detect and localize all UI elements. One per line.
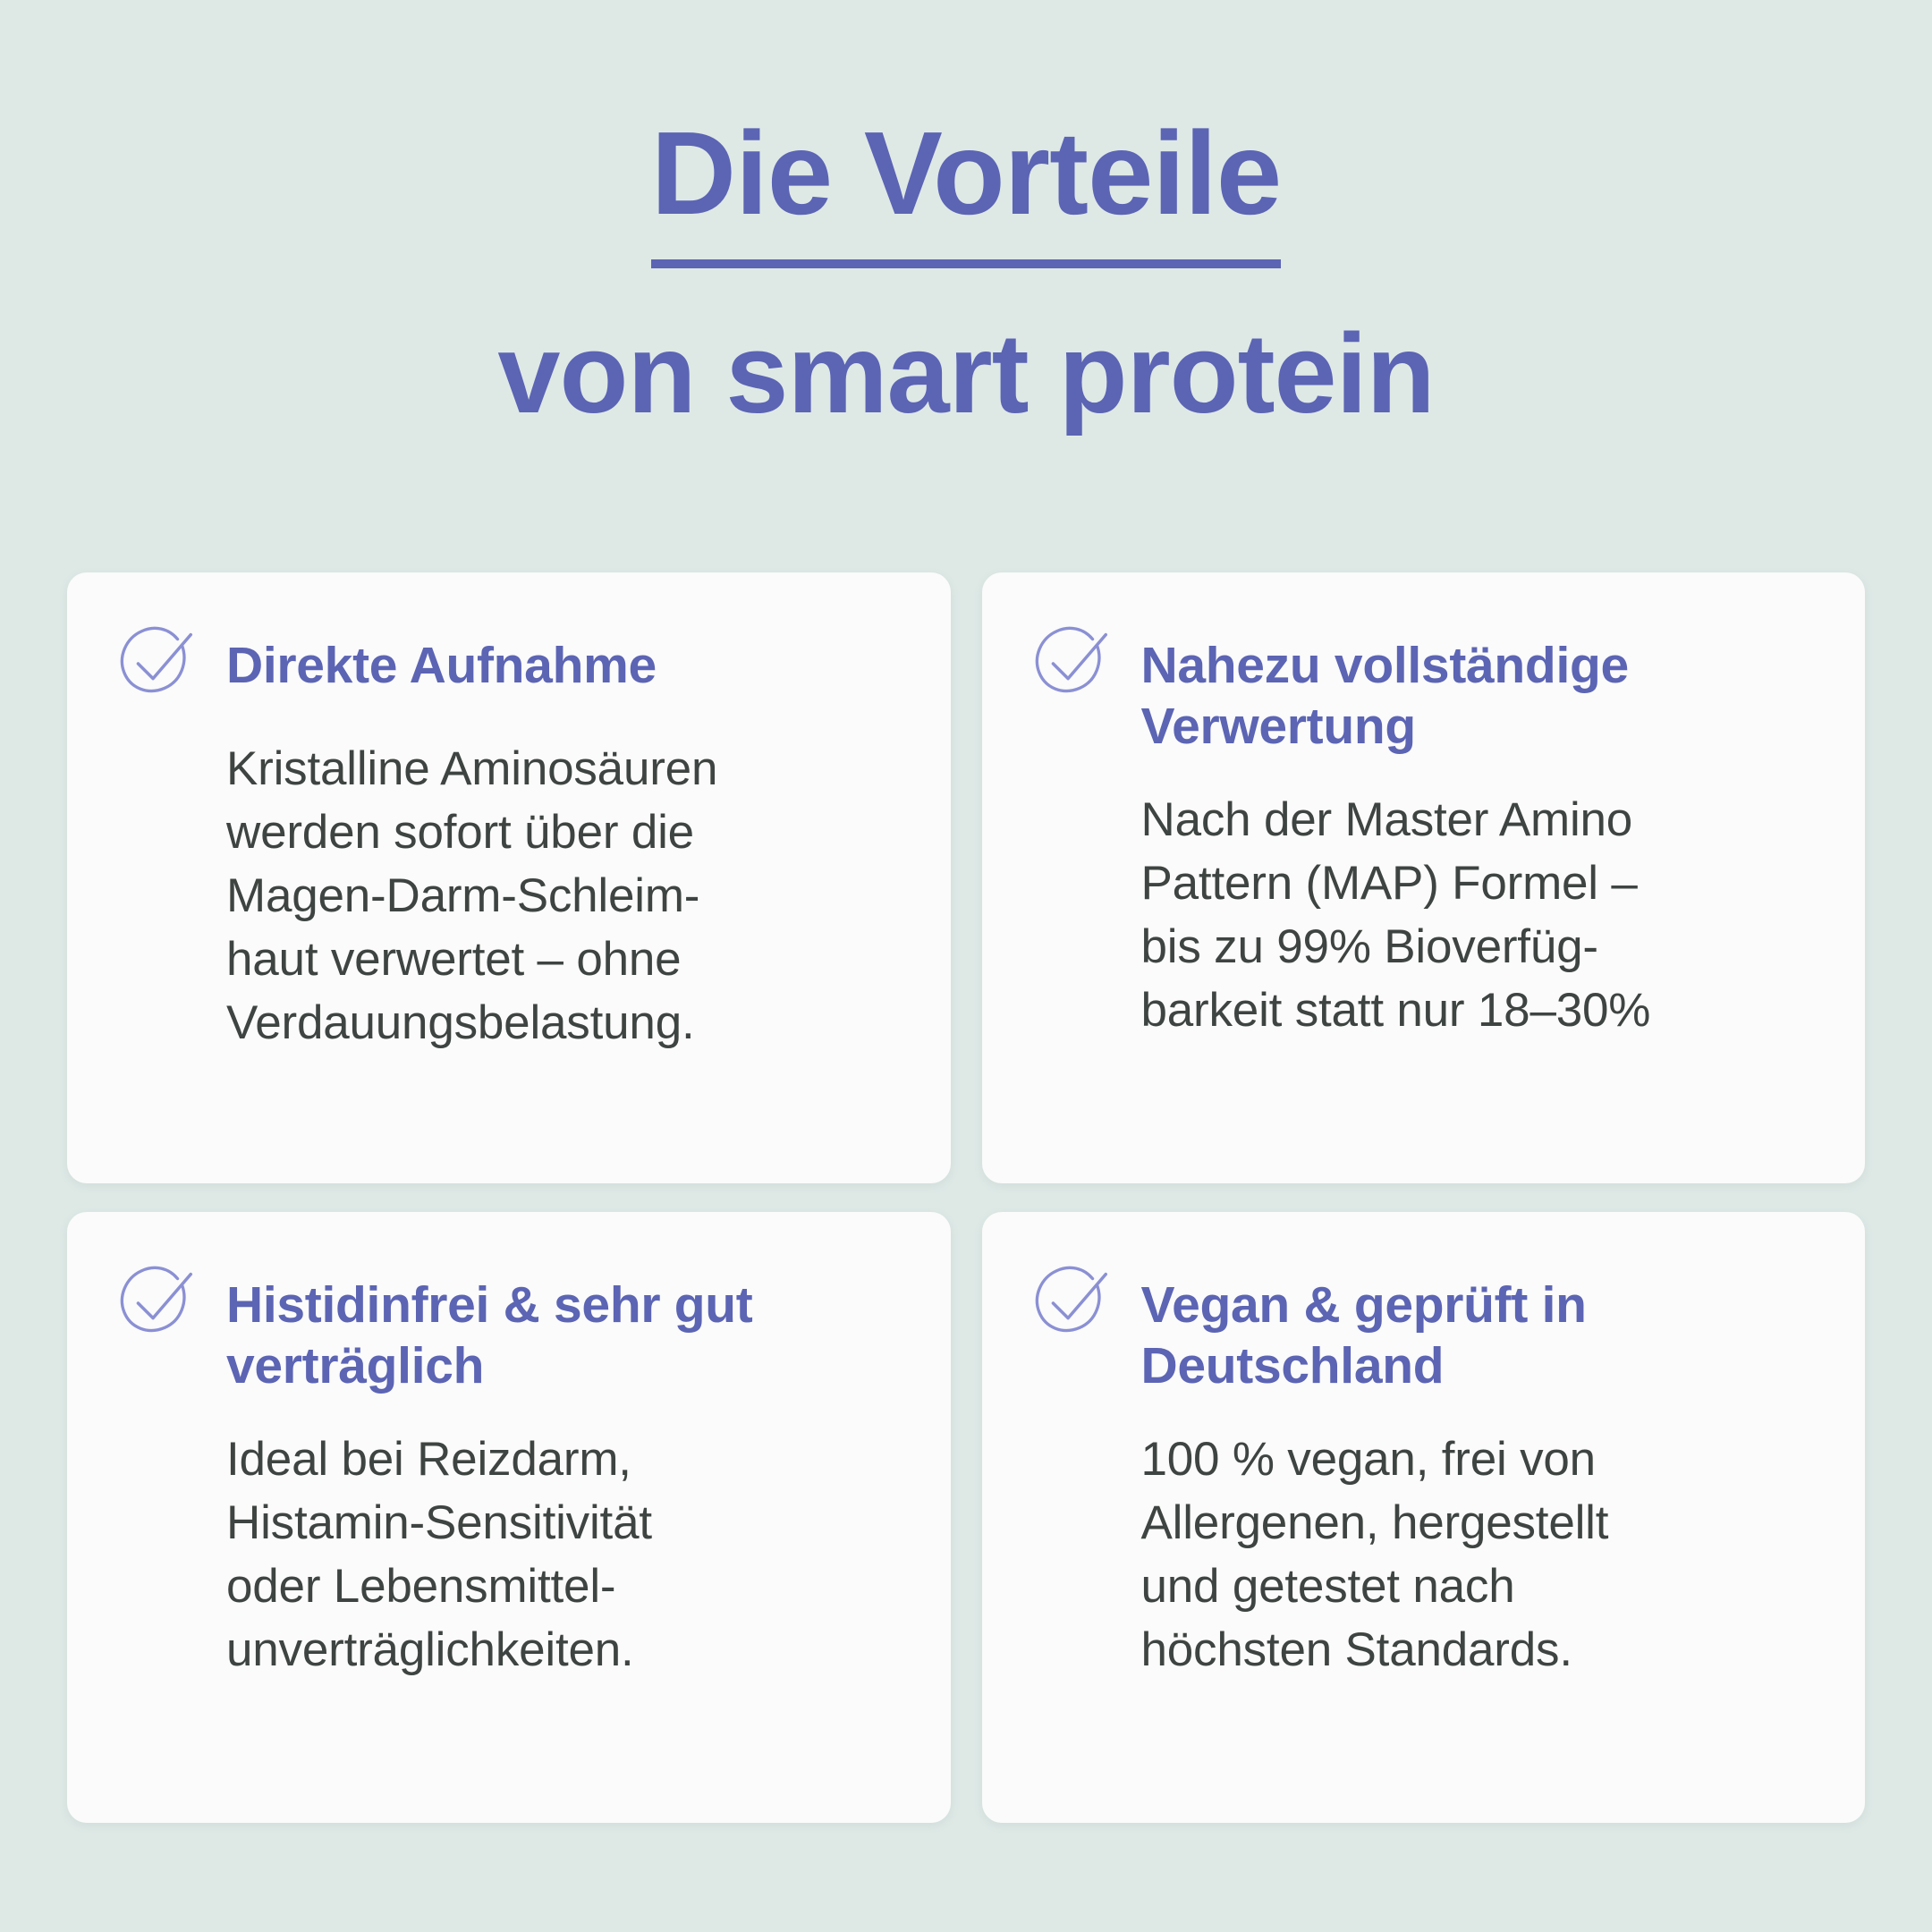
benefit-card-direkte-aufnahme: Direkte Aufnahme Kristalline Aminosäuren… [67, 572, 951, 1183]
page-title-secondary: von smart protein [0, 309, 1932, 438]
card-header: Nahezu vollständige Verwertung [1025, 623, 1814, 758]
card-title: Histidinfrei & sehr gut verträglich [226, 1262, 852, 1397]
card-header: Direkte Aufnahme [110, 623, 899, 707]
card-header: Histidinfrei & sehr gut verträglich [110, 1262, 899, 1397]
card-body-text: Kristalline Aminosäuren werden sofort üb… [226, 737, 888, 1055]
check-circle-icon [114, 619, 201, 707]
card-title: Direkte Aufnahme [226, 623, 657, 696]
check-circle-icon [1029, 619, 1116, 707]
card-title: Nahezu vollständige Verwertung [1141, 623, 1767, 758]
page-title-primary: Die Vorteile [651, 107, 1281, 268]
check-circle-icon [114, 1258, 201, 1346]
benefit-card-histidinfrei: Histidinfrei & sehr gut verträglich Idea… [67, 1212, 951, 1823]
page-header: Die Vorteile von smart protein [0, 107, 1932, 437]
benefit-card-vollstaendige-verwertung: Nahezu vollständige Verwertung Nach der … [982, 572, 1866, 1183]
benefit-card-vegan-geprueft: Vegan & geprüft in Deutschland 100 % veg… [982, 1212, 1866, 1823]
card-body-text: Ideal bei Reizdarm, Histamin-Sensitivitä… [226, 1428, 888, 1682]
benefits-infographic: Die Vorteile von smart protein Direkte A… [0, 0, 1932, 1932]
card-body-text: Nach der Master Amino Pattern (MAP) Form… [1141, 788, 1814, 1042]
benefits-card-grid: Direkte Aufnahme Kristalline Aminosäuren… [67, 572, 1865, 1823]
card-title: Vegan & geprüft in Deutschland [1141, 1262, 1767, 1397]
card-header: Vegan & geprüft in Deutschland [1025, 1262, 1814, 1397]
check-circle-icon [1029, 1258, 1116, 1346]
card-body-text: 100 % vegan, frei von Allergenen, herges… [1141, 1428, 1814, 1682]
